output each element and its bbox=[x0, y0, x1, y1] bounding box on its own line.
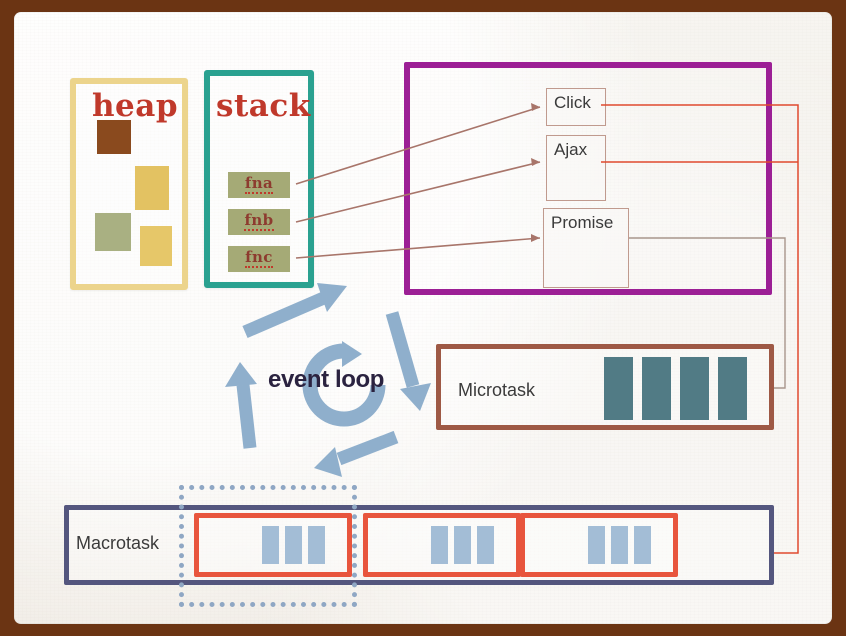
slide-canvas: heap stack fnafnbfnc ClickAjaxPromise ev… bbox=[0, 0, 846, 636]
arrow-up-right-icon bbox=[245, 283, 347, 332]
arrow-up-icon bbox=[225, 362, 257, 448]
event-loop-label: event loop bbox=[268, 366, 384, 394]
arrow-down-right-icon bbox=[392, 313, 431, 411]
event-loop-arrows bbox=[0, 0, 846, 636]
arrow-down-left-icon bbox=[314, 437, 396, 477]
